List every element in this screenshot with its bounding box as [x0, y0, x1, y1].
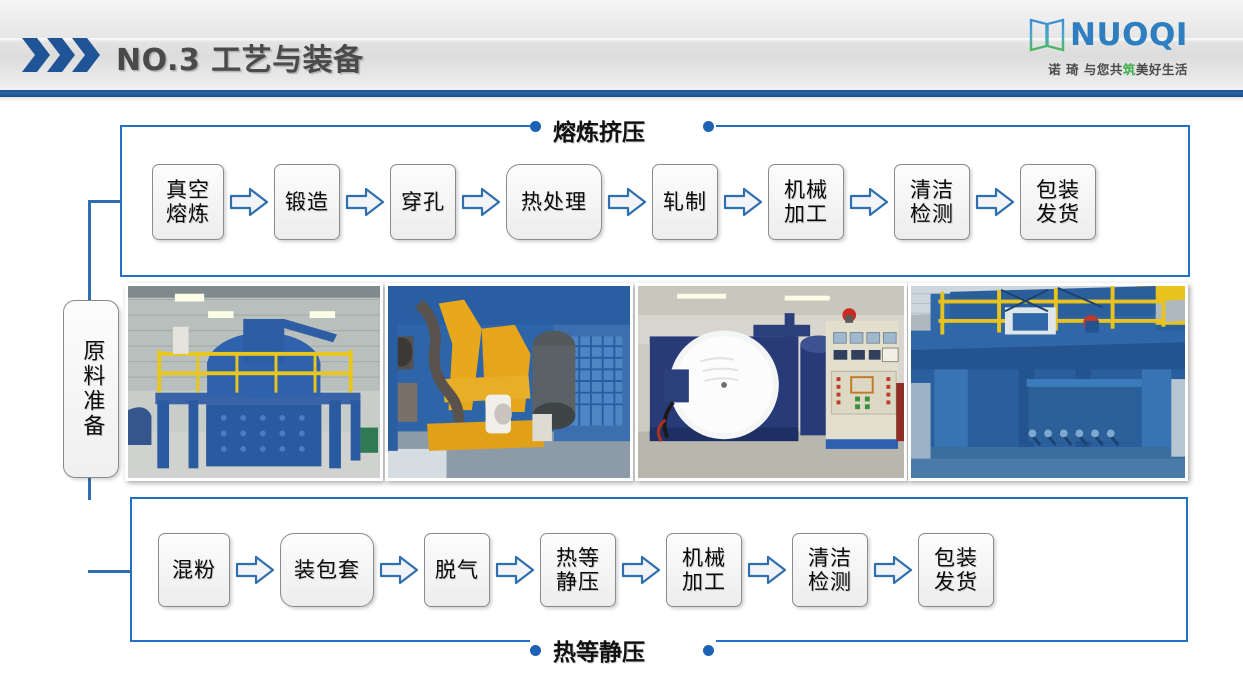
arrow-right-icon	[975, 186, 1015, 218]
arrow-right-icon	[723, 186, 763, 218]
process-step-box[interactable]: 热处理	[506, 164, 602, 240]
panel-bottom-dot-left	[530, 645, 541, 656]
process-step-label: 脱气	[435, 558, 479, 582]
flow-row-hot-isostatic-pressing: 混粉装包套脱气热等 静压机械 加工清洁 检测包装 发货	[158, 529, 994, 611]
arrow-right-icon	[747, 554, 787, 586]
process-step-label: 锻造	[285, 190, 329, 214]
process-step-box[interactable]: 机械 加工	[768, 164, 844, 240]
raw-material-preparation-label: 原料准备	[78, 339, 105, 439]
process-step-label: 包装 发货	[1036, 178, 1080, 226]
arrow-right-icon	[621, 554, 661, 586]
arrow-right-icon	[379, 554, 419, 586]
vacuum-heat-treatment-furnace-photo	[635, 283, 907, 481]
arrow-right-icon	[229, 186, 269, 218]
rolling-mill-line-photo	[908, 283, 1188, 481]
process-step-label: 穿孔	[401, 190, 445, 214]
process-step-label: 热处理	[521, 190, 587, 214]
process-step-label: 清洁 检测	[808, 546, 852, 594]
connector-to-top-panel	[88, 200, 122, 203]
logo-tagline-suffix: 美好生活	[1136, 62, 1188, 77]
process-step-box[interactable]: 热等 静压	[540, 533, 616, 607]
process-step-box[interactable]: 穿孔	[390, 164, 456, 240]
section-label-melting-extrusion: 熔炼挤压	[553, 113, 645, 147]
process-step-box[interactable]: 轧制	[652, 164, 718, 240]
vacuum-melting-furnace-photo	[125, 283, 383, 481]
process-step-label: 包装 发货	[934, 546, 978, 594]
extrusion-press-photo	[385, 283, 633, 481]
nuoqi-book-mark-icon	[1029, 16, 1065, 54]
slide-root: NO.3 工艺与装备	[0, 0, 1243, 696]
arrow-right-icon	[235, 554, 275, 586]
connector-to-bottom-panel	[88, 570, 132, 573]
header-chevron-group	[22, 36, 118, 74]
process-step-label: 机械 加工	[682, 546, 726, 594]
process-step-box[interactable]: 锻造	[274, 164, 340, 240]
panel-bottom-dot-right	[703, 645, 714, 656]
page-title: NO.3 工艺与装备	[116, 35, 364, 79]
process-step-box[interactable]: 包装 发货	[1020, 164, 1096, 240]
arrow-right-icon	[873, 554, 913, 586]
logo-tagline: 诺 琦 与您共筑美好生活	[1029, 59, 1207, 78]
logo-tagline-prefix: 诺 琦 与您共	[1048, 62, 1123, 77]
logo-wordmark: NUOQI	[1070, 20, 1188, 51]
process-step-box[interactable]: 真空 熔炼	[152, 164, 224, 240]
process-step-box[interactable]: 装包套	[280, 533, 374, 607]
raw-material-preparation-box[interactable]: 原料准备	[63, 300, 119, 478]
arrow-right-icon	[849, 186, 889, 218]
header-divider-shadow	[0, 97, 1243, 102]
process-step-box[interactable]: 混粉	[158, 533, 230, 607]
panel-top-dot-left	[530, 121, 541, 132]
process-step-box[interactable]: 清洁 检测	[894, 164, 970, 240]
process-step-box[interactable]: 包装 发货	[918, 533, 994, 607]
slide-header: NO.3 工艺与装备	[0, 0, 1243, 90]
process-step-label: 机械 加工	[784, 178, 828, 226]
panel-top-dot-right	[703, 121, 714, 132]
process-step-label: 装包套	[294, 558, 360, 582]
arrow-right-icon	[345, 186, 385, 218]
process-step-label: 清洁 检测	[910, 178, 954, 226]
process-step-box[interactable]: 脱气	[424, 533, 490, 607]
flow-row-melting-extrusion: 真空 熔炼锻造穿孔热处理轧制机械 加工清洁 检测包装 发货	[152, 160, 1096, 244]
logo-tagline-accent: 筑	[1123, 62, 1136, 77]
process-step-label: 混粉	[172, 558, 216, 582]
arrow-right-icon	[607, 186, 647, 218]
process-step-label: 轧制	[663, 190, 707, 214]
chevron-right-icon	[72, 36, 102, 74]
section-label-hot-isostatic-pressing: 热等静压	[553, 633, 645, 667]
arrow-right-icon	[461, 186, 501, 218]
process-step-box[interactable]: 机械 加工	[666, 533, 742, 607]
process-step-label: 热等 静压	[556, 546, 600, 594]
header-divider-rule	[0, 90, 1243, 97]
process-step-label: 真空 熔炼	[166, 178, 210, 226]
arrow-right-icon	[495, 554, 535, 586]
brand-logo: NUOQI 诺 琦 与您共筑美好生活	[1029, 14, 1219, 84]
process-step-box[interactable]: 清洁 检测	[792, 533, 868, 607]
